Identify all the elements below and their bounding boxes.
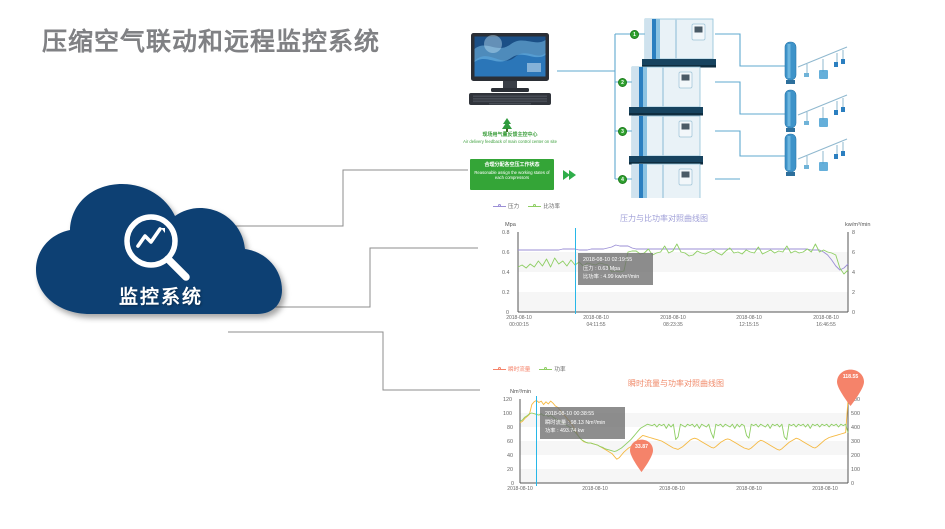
chart1-cursor-line[interactable] bbox=[575, 228, 576, 314]
chart1-tooltip-line-2: 比功率 : 4.99 kw/m³/min bbox=[583, 273, 648, 282]
page-title: 压缩空气联动和远程监控系统 bbox=[42, 22, 380, 58]
chart1-xtick-3-date: 2018-08-10 bbox=[728, 315, 770, 322]
chart1-xtick-2-date: 2018-08-10 bbox=[652, 315, 694, 322]
assign-box-en: Reasonable assign the working states of … bbox=[470, 170, 554, 181]
chart2-tooltip: 2018-08-10 00:38:55 瞬时流量 : 98.13 Nm³/min… bbox=[540, 407, 625, 439]
chart2-xtick-3-date: 2018-08-10 bbox=[726, 486, 772, 493]
compressor-node-4[interactable]: 4 bbox=[618, 175, 627, 184]
chart2-marker-min[interactable]: 33.87 bbox=[628, 439, 655, 473]
connector-line-bottom bbox=[228, 330, 483, 392]
chart1-xtick-3-time: 12:15:15 bbox=[728, 322, 770, 329]
system-topology-diagram: 1 2 3 4 bbox=[440, 14, 945, 204]
tree-icon bbox=[499, 117, 515, 133]
chart-flow-power[interactable]: 瞬时流量 功率 瞬时流量与功率对照曲线图 Nm³/min 120 100 80 … bbox=[480, 360, 880, 525]
compressor-node-3[interactable]: 3 bbox=[618, 127, 627, 136]
chart1-xtick-1: 2018-08-10 04:11:55 bbox=[575, 315, 617, 329]
chart1-xtick-2: 2018-08-10 08:23:35 bbox=[652, 315, 694, 329]
chart2-xtick-3: 2018-08-10 bbox=[726, 486, 772, 493]
slide-canvas: 压缩空气联动和远程监控系统 bbox=[0, 0, 945, 529]
chart1-tooltip: 2018-08-10 02:19:55 压力 : 0.63 Mpa 比功率 : … bbox=[578, 253, 653, 285]
cloud-label: 监控系统 bbox=[30, 282, 292, 309]
chart2-plot bbox=[480, 360, 880, 525]
chart2-marker-max[interactable]: 118.55 bbox=[835, 369, 866, 407]
chart2-tooltip-timestamp: 2018-08-10 00:38:55 bbox=[545, 410, 620, 419]
chart1-xtick-2-time: 08:23:35 bbox=[652, 322, 694, 329]
chart1-xtick-0-date: 2018-08-10 bbox=[498, 315, 540, 322]
feedback-caption: 现场用气量反馈主控中心 Air delivery feedback of mai… bbox=[450, 132, 570, 144]
desktop-computer-icon bbox=[463, 31, 557, 116]
chart1-xtick-0-time: 00:00:15 bbox=[498, 322, 540, 329]
chart1-xtick-4-time: 16:46:55 bbox=[805, 322, 847, 329]
assign-status-box: 合理分配各空压工作状态 Reasonable assign the workin… bbox=[470, 159, 554, 190]
chart2-cursor-line[interactable] bbox=[536, 396, 537, 486]
chart2-marker-max-label: 118.55 bbox=[835, 374, 866, 380]
chart2-tooltip-line-1: 瞬时流量 : 98.13 Nm³/min bbox=[545, 419, 620, 428]
chart2-xtick-0-date: 2018-08-10 bbox=[497, 486, 543, 493]
assign-box-cn: 合理分配各空压工作状态 bbox=[470, 162, 554, 168]
chart1-tooltip-timestamp: 2018-08-10 02:19:55 bbox=[583, 256, 648, 265]
chart-pressure-specific-power[interactable]: 压力 比功率 压力与比功率对照曲线图 Mpa kw/m³/min 0.8 0.6… bbox=[480, 198, 880, 336]
chart1-xtick-4: 2018-08-10 16:46:55 bbox=[805, 315, 847, 329]
magnifier-chart-icon bbox=[120, 212, 194, 284]
feedback-caption-en: Air delivery feedback of main control ce… bbox=[450, 139, 570, 144]
chart1-xtick-1-time: 04:11:55 bbox=[575, 322, 617, 329]
chart2-xtick-4: 2018-08-10 bbox=[802, 486, 848, 493]
right-arrow-icon bbox=[562, 167, 578, 183]
chart2-marker-min-label: 33.87 bbox=[628, 444, 655, 450]
chart2-xtick-1: 2018-08-10 bbox=[572, 486, 618, 493]
compressor-node-1[interactable]: 1 bbox=[630, 30, 639, 39]
chart2-xtick-2: 2018-08-10 bbox=[649, 486, 695, 493]
feedback-caption-cn: 现场用气量反馈主控中心 bbox=[450, 132, 570, 138]
chart1-tooltip-line-1: 压力 : 0.63 Mpa bbox=[583, 265, 648, 274]
chart2-tooltip-line-2: 功率 : 493.74 kw bbox=[545, 427, 620, 436]
chart2-xtick-1-date: 2018-08-10 bbox=[572, 486, 618, 493]
chart1-xtick-4-date: 2018-08-10 bbox=[805, 315, 847, 322]
compressor-node-2[interactable]: 2 bbox=[618, 78, 627, 87]
chart1-xtick-1-date: 2018-08-10 bbox=[575, 315, 617, 322]
chart2-xtick-0: 2018-08-10 bbox=[497, 486, 543, 493]
chart2-xtick-4-date: 2018-08-10 bbox=[802, 486, 848, 493]
chart1-xtick-0: 2018-08-10 00:00:15 bbox=[498, 315, 540, 329]
chart2-xtick-2-date: 2018-08-10 bbox=[649, 486, 695, 493]
chart1-xtick-3: 2018-08-10 12:15:15 bbox=[728, 315, 770, 329]
